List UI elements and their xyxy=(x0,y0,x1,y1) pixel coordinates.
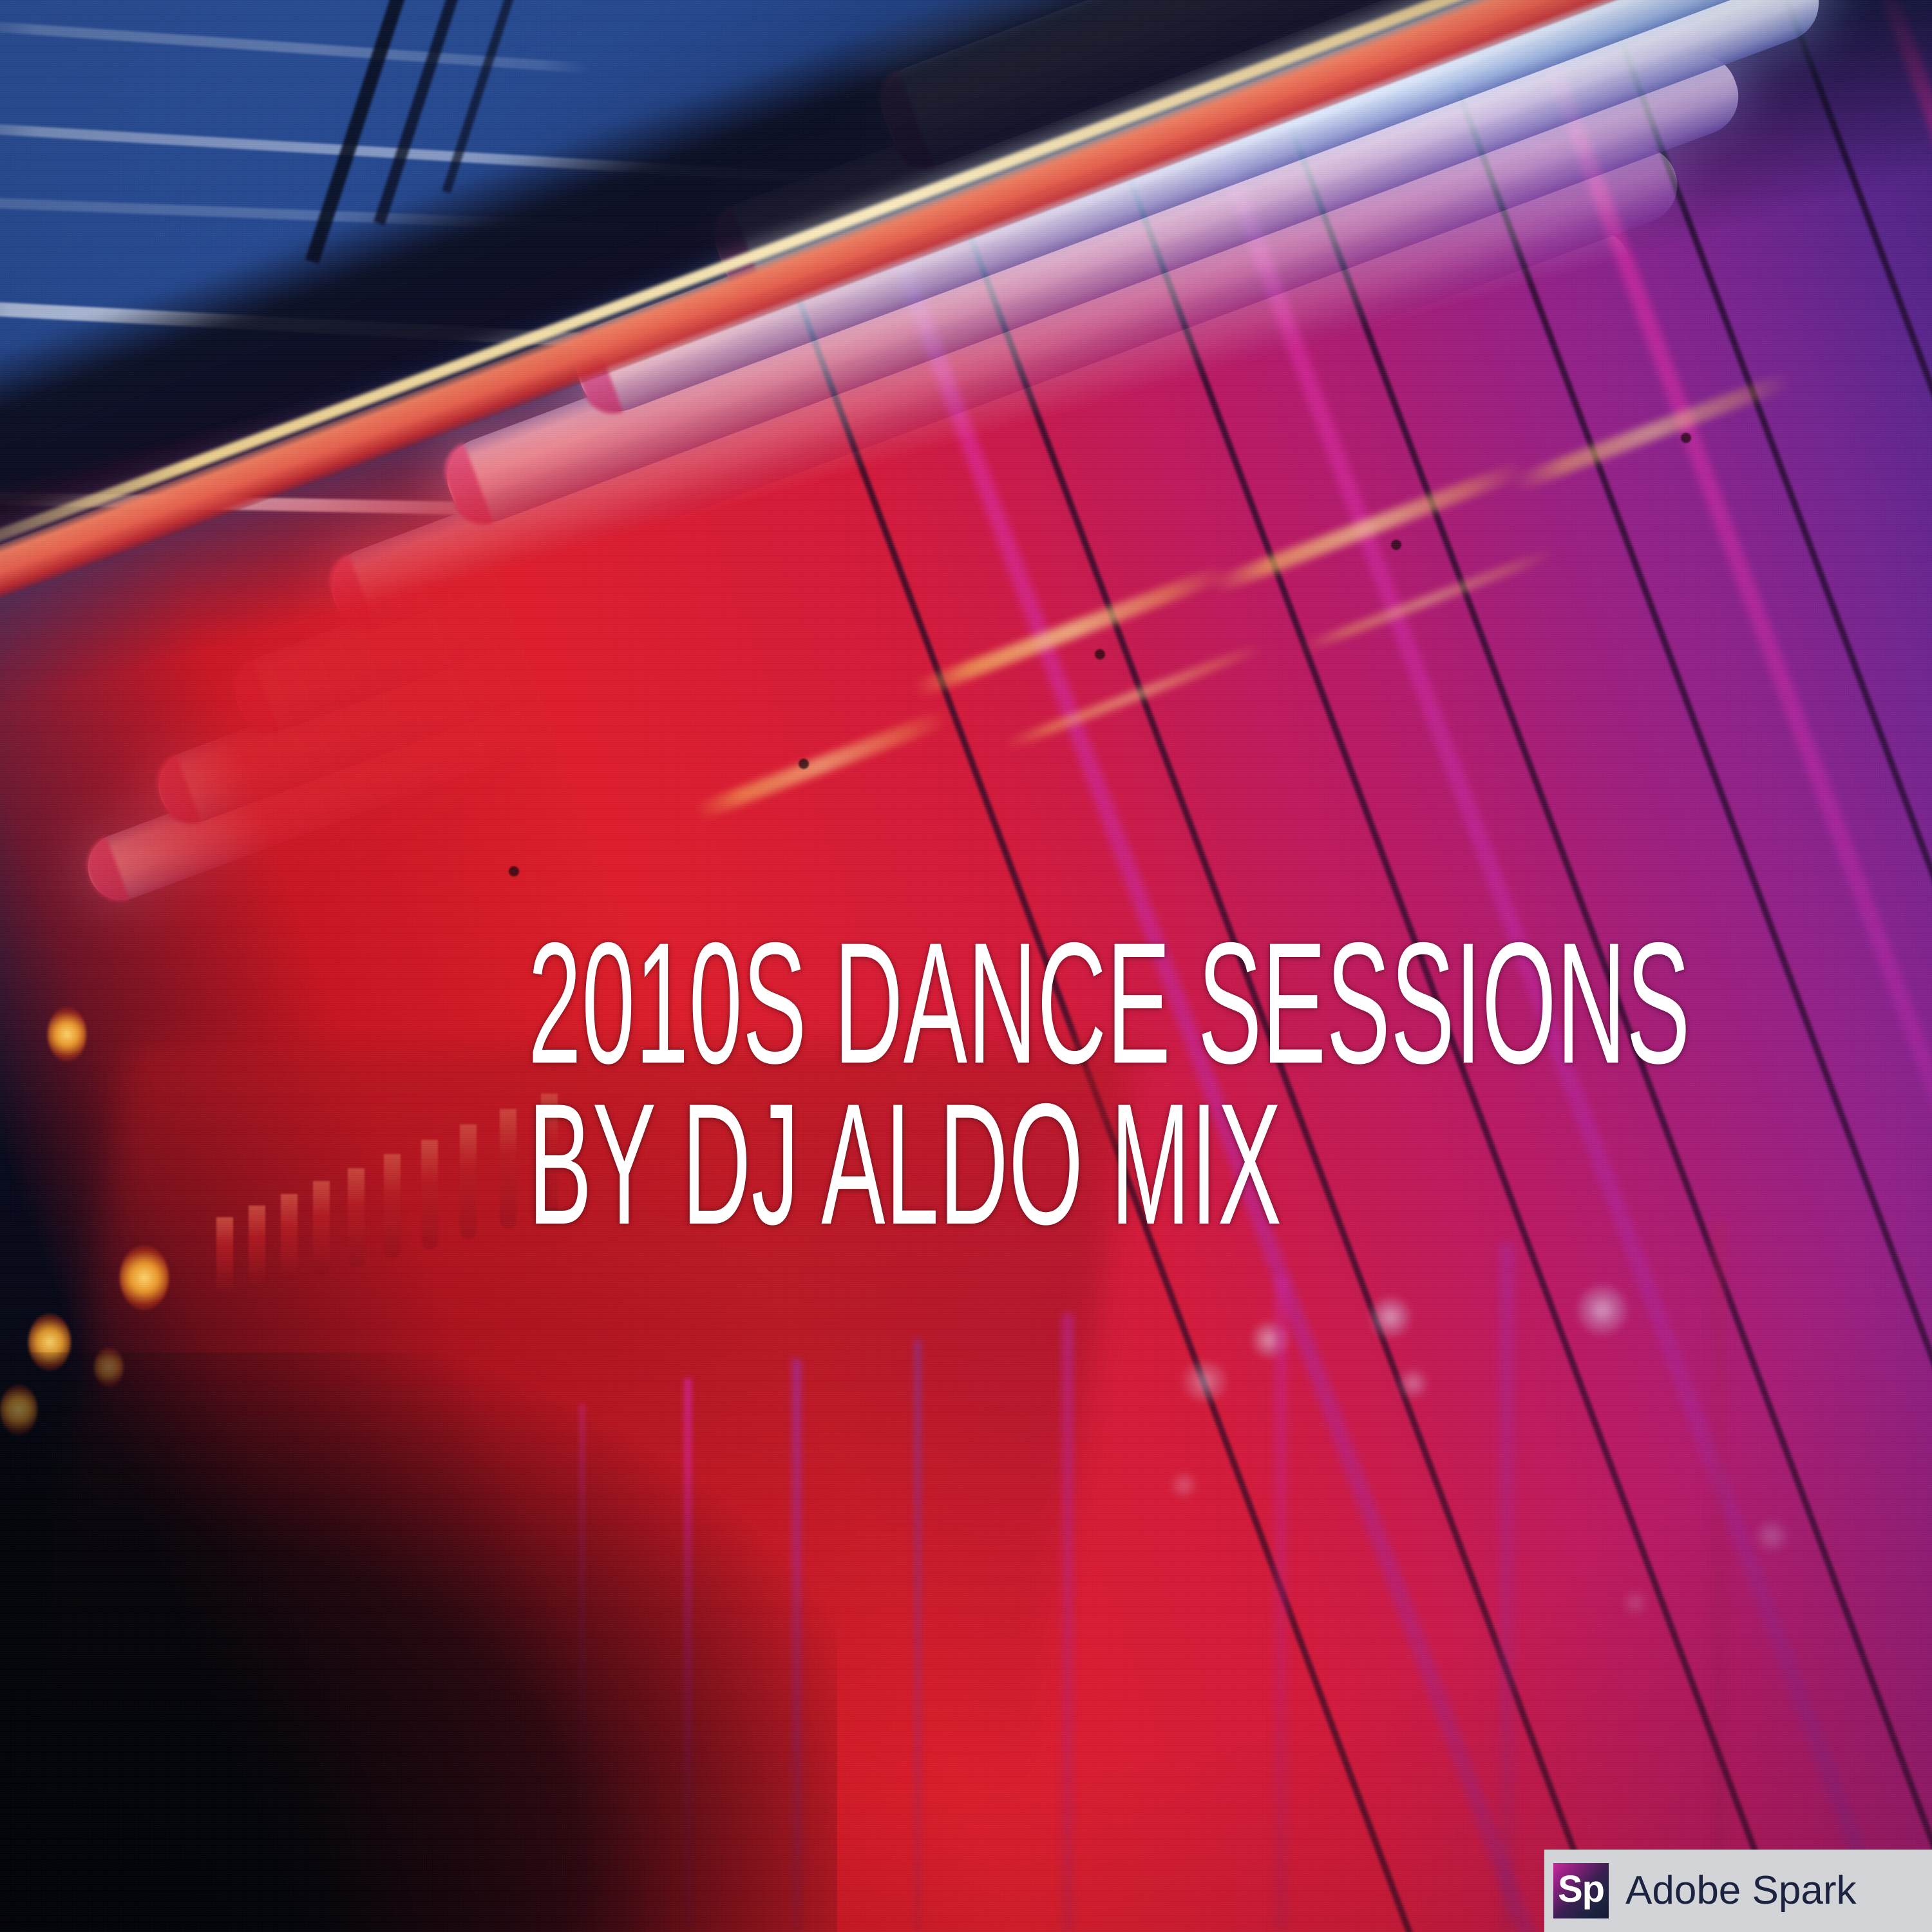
adobe-spark-label: Adobe Spark xyxy=(1625,1871,1856,1911)
title-line-2: BY DJ ALDO MIX xyxy=(528,1083,1243,1244)
adobe-spark-logo-mark: Sp xyxy=(1558,1871,1604,1908)
title-line-1: 2010S DANCE SESSIONS xyxy=(528,922,1243,1083)
adobe-spark-watermark[interactable]: Sp Adobe Spark xyxy=(1544,1850,1932,1932)
adobe-spark-icon: Sp xyxy=(1553,1863,1609,1918)
poster-title: 2010S DANCE SESSIONS BY DJ ALDO MIX xyxy=(528,922,1816,1244)
poster-canvas: 2010S DANCE SESSIONS BY DJ ALDO MIX Sp A… xyxy=(0,0,1932,1932)
